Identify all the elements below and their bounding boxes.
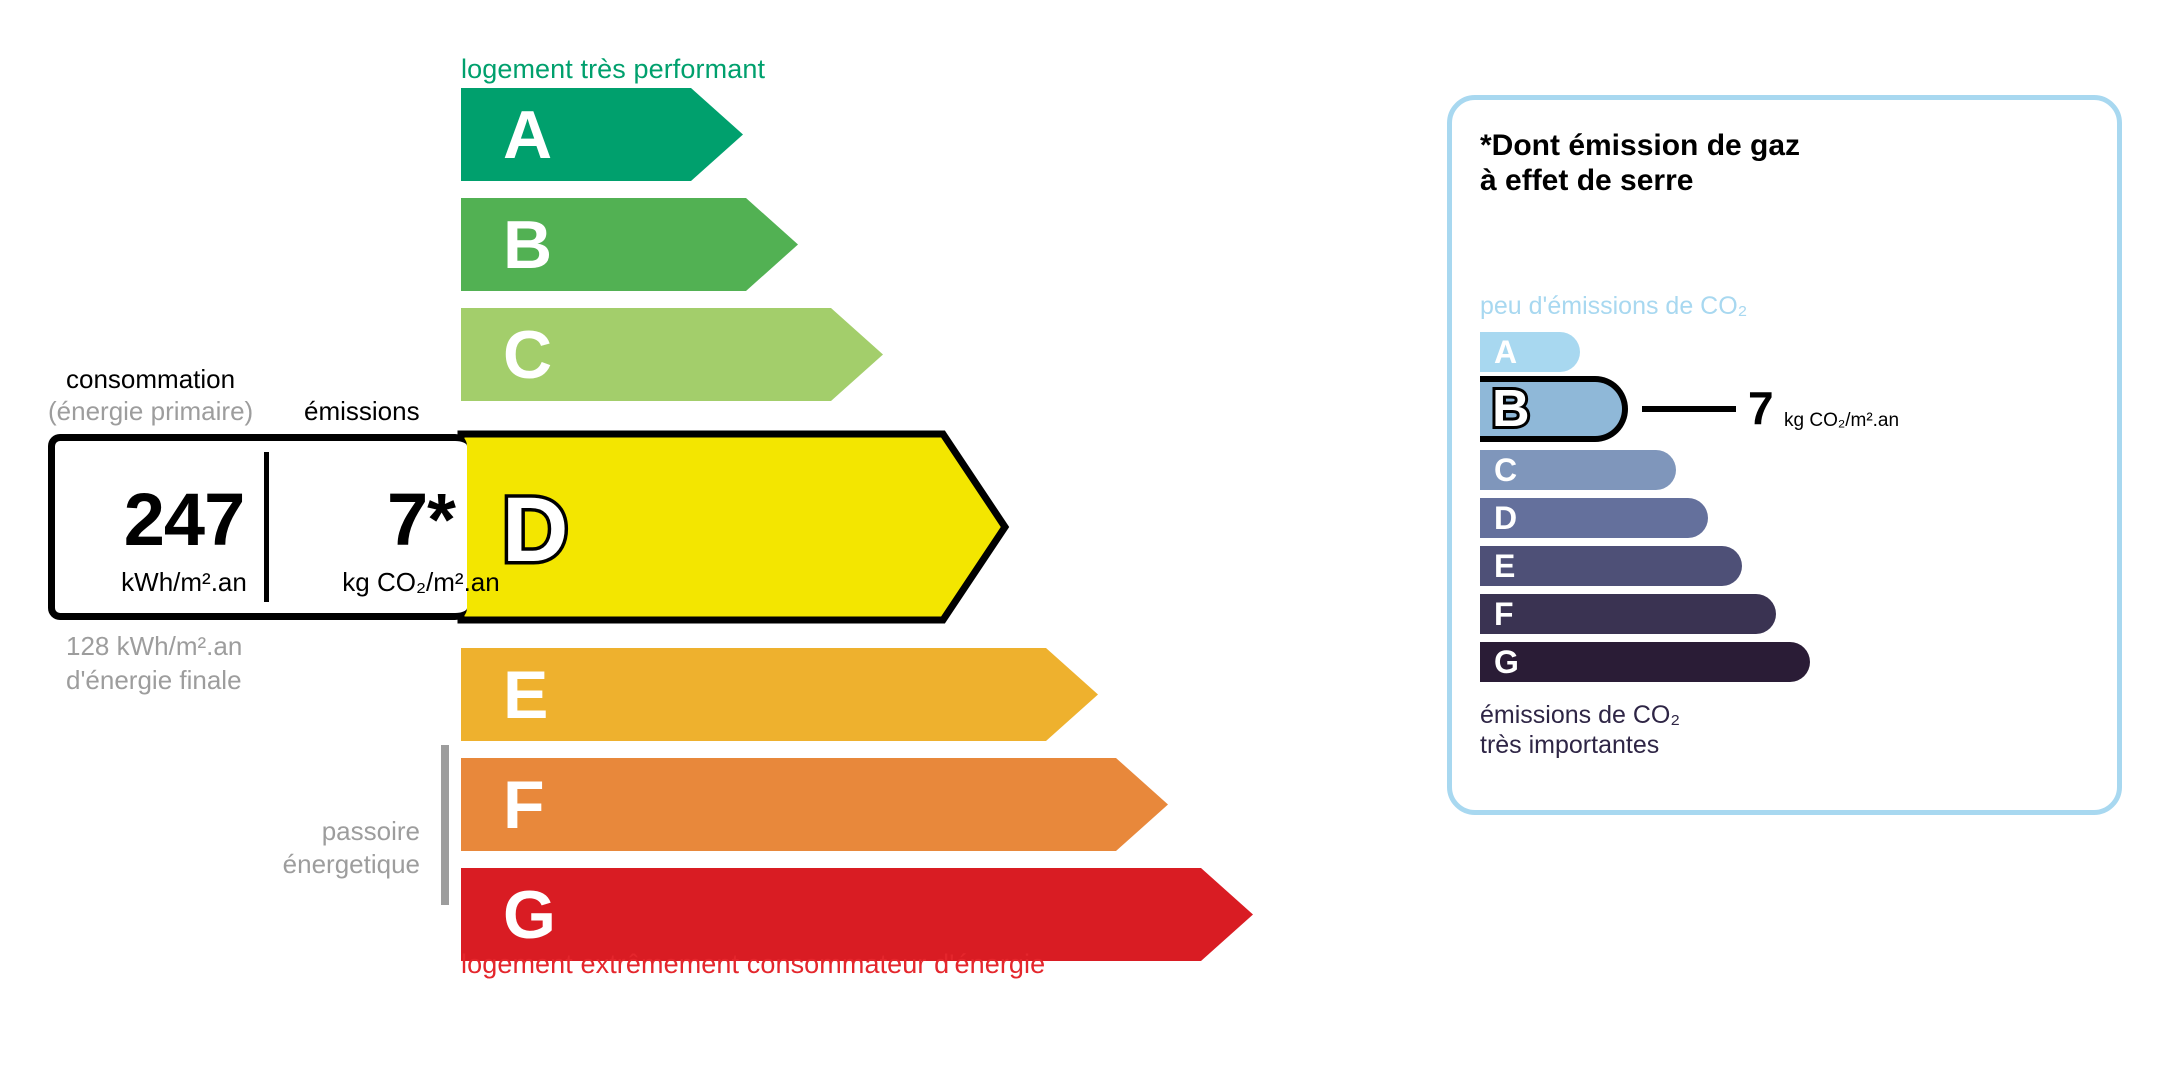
energy-class-arrow-e: E [461,648,1098,741]
passoire-label: passoire énergetique [200,815,420,880]
co2-class-letter-g: G [1494,646,1519,678]
co2-class-letter-d: D [1494,502,1517,534]
co2-bar-c: C [1480,450,1676,490]
label-consumption-sub: (énergie primaire) [48,396,253,427]
energy-scale-panel: logement très performant A B C [0,0,1400,1079]
consumption-value-cell: 247 kWh/m².an [55,441,313,655]
co2-title: *Dont émission de gaz à effet de serre [1480,128,1800,199]
energy-class-arrow-b: B [461,198,798,291]
consumption-unit: kWh/m².an [55,569,313,595]
energy-class-arrow-c: C [461,308,883,401]
co2-title-line2: à effet de serre [1480,163,1800,198]
dpe-label: logement très performant A B C [0,0,2170,1079]
label-emissions: émissions [304,396,420,427]
emission-unit: kg CO₂/m².an [325,569,517,595]
passoire-line1: passoire [200,815,420,848]
co2-class-row-e: E [1480,546,1742,586]
final-energy-note: 128 kWh/m².an d'énergie finale [66,630,242,698]
passoire-bracket [441,745,449,905]
co2-bar-g: G [1480,642,1810,682]
value-box: 247 kWh/m².an 7* kg CO₂/m².an [48,434,467,620]
co2-bar-d: D [1480,498,1708,538]
co2-class-row-g: G [1480,642,1810,682]
co2-class-row-b-selected: B [1480,376,1628,442]
co2-class-row-c: C [1480,450,1676,490]
co2-bar-b: B [1480,376,1628,442]
co2-class-row-a: A [1480,332,1580,372]
energy-class-letter-e: E [503,661,548,729]
passoire-line2: énergetique [200,848,420,881]
co2-value: 7 [1748,385,1774,431]
energy-class-letter-g: G [503,881,556,949]
energy-bottom-caption: logement extrêmement consommateur d'éner… [461,949,1045,980]
energy-class-arrow-f: F [461,758,1168,851]
co2-class-letter-b: B [1492,383,1530,435]
co2-bar-a: A [1480,332,1580,372]
energy-class-letter-a: A [503,101,552,169]
consumption-value: 247 [55,483,313,557]
co2-class-row-d: D [1480,498,1708,538]
co2-class-letter-e: E [1494,550,1515,582]
energy-class-arrow-a: A [461,88,743,181]
label-consumption: consommation [66,364,235,395]
co2-leader-line [1642,406,1736,412]
co2-bottom-caption: émissions de CO₂ très importantes [1480,700,1680,760]
co2-bar-e: E [1480,546,1742,586]
energy-top-caption: logement très performant [461,54,765,85]
co2-panel: *Dont émission de gaz à effet de serre p… [1447,95,2122,815]
emission-value-cell: 7* kg CO₂/m².an [325,441,517,655]
energy-class-letter-f: F [503,771,545,839]
co2-class-row-f: F [1480,594,1776,634]
co2-class-letter-a: A [1494,336,1517,368]
co2-bottom-caption-line2: très importantes [1480,730,1680,760]
co2-title-line1: *Dont émission de gaz [1480,128,1800,163]
co2-top-caption: peu d'émissions de CO₂ [1480,292,1747,321]
emission-value: 7* [325,483,517,557]
co2-class-letter-f: F [1494,598,1514,630]
co2-bottom-caption-line1: émissions de CO₂ [1480,700,1680,730]
final-energy-line2: d'énergie finale [66,664,242,698]
energy-class-letter-b: B [503,211,552,279]
energy-class-arrow-d-selected: D [454,427,1012,632]
final-energy-line1: 128 kWh/m².an [66,630,242,664]
co2-bar-f: F [1480,594,1776,634]
value-box-divider [264,452,269,602]
energy-class-arrow-g: G [461,868,1253,961]
co2-value-unit: kg CO₂/m².an [1784,411,1899,430]
energy-class-letter-c: C [503,321,552,389]
co2-class-letter-c: C [1494,454,1517,486]
